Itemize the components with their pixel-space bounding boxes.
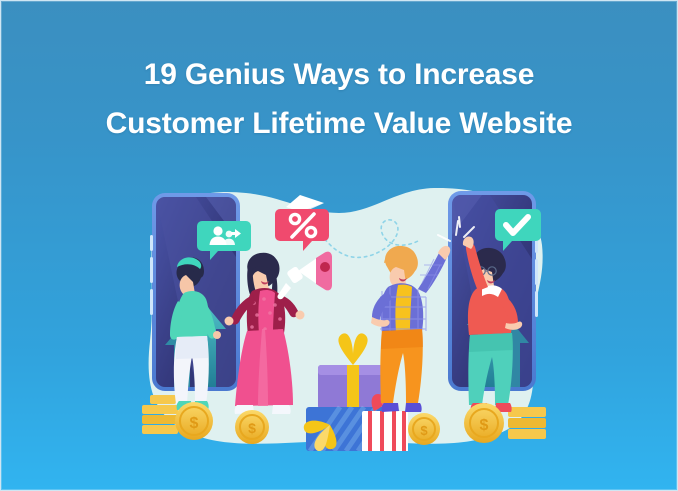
- svg-text:$: $: [248, 420, 256, 436]
- title-line-2: Customer Lifetime Value Website: [41, 100, 637, 149]
- hero-illustration: $ $ $ $: [134, 179, 554, 457]
- title-line-1: 19 Genius Ways to Increase: [41, 51, 637, 100]
- poster-canvas: 19 Genius Ways to Increase Customer Life…: [0, 0, 678, 491]
- page-title: 19 Genius Ways to Increase Customer Life…: [1, 51, 677, 148]
- svg-text:$: $: [480, 417, 489, 434]
- coin: $: [175, 402, 213, 440]
- svg-text:$: $: [420, 423, 428, 438]
- coin: $: [464, 403, 504, 443]
- coin: $: [408, 413, 440, 445]
- svg-text:$: $: [190, 415, 199, 432]
- coin: $: [235, 410, 269, 444]
